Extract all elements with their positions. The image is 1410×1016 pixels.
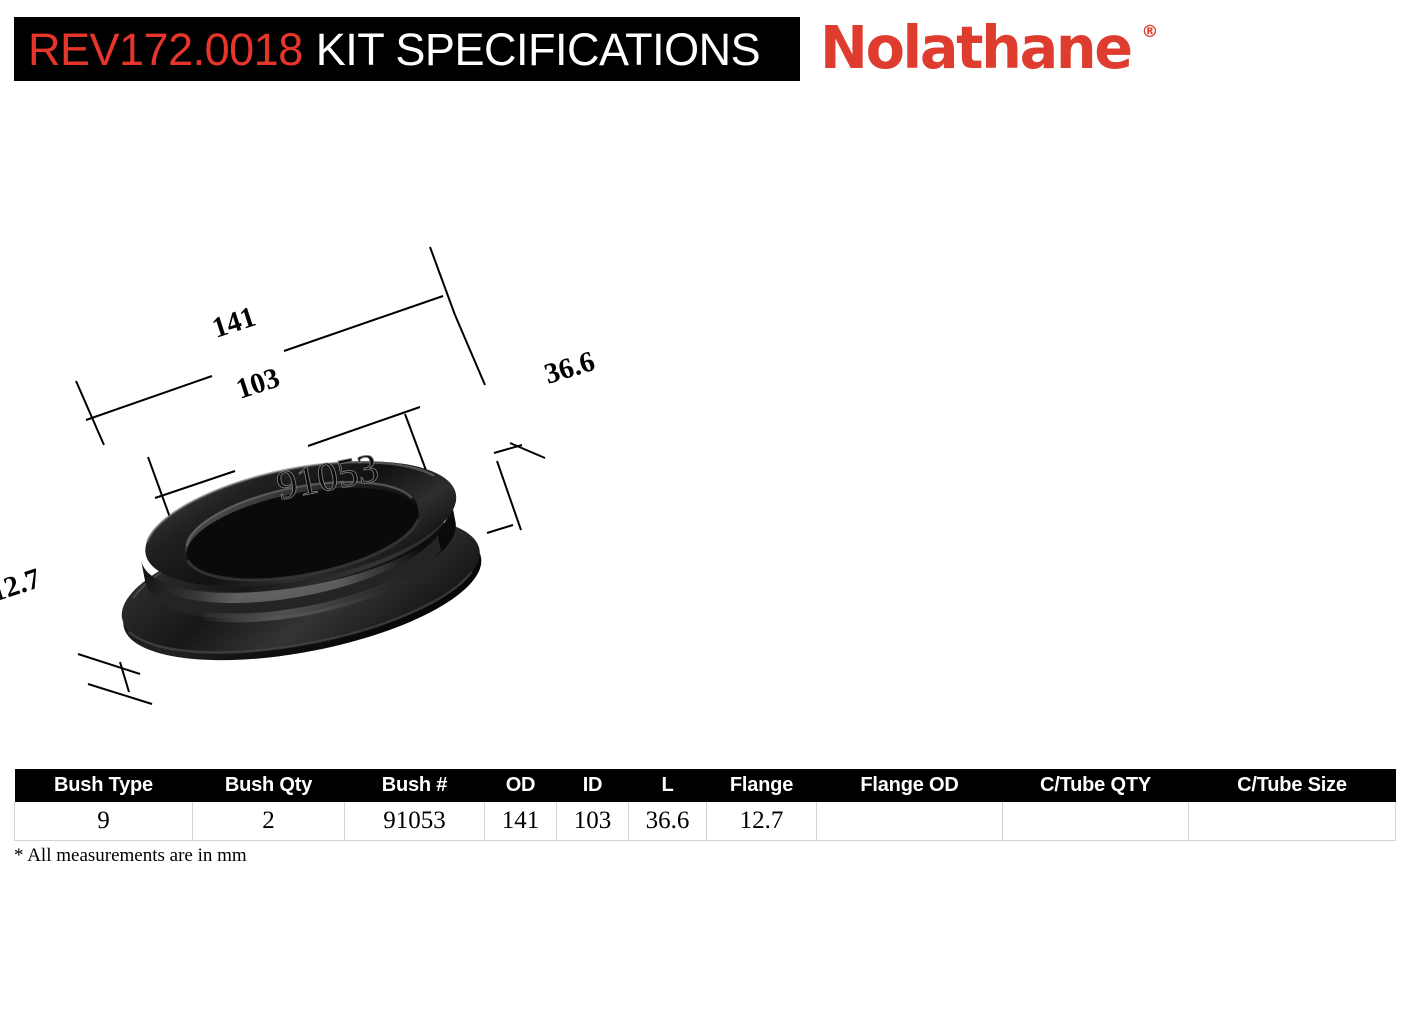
spec-table-container: Bush Type Bush Qty Bush # OD ID L Flange… [14,769,1395,841]
spec-sheet-page: REV172.0018 KIT SPECIFICATIONS Nolathane… [0,0,1410,1016]
column-header-ctube-size: C/Tube Size [1189,769,1396,802]
cell-bush-type: 9 [15,802,193,840]
kit-code: REV172.0018 [28,27,303,72]
column-header-ctube-qty: C/Tube QTY [1003,769,1189,802]
cell-id: 103 [557,802,629,840]
table-row: 9 2 91053 141 103 36.6 12.7 [15,802,1396,840]
column-header-flange-od: Flange OD [817,769,1003,802]
dimension-label-103: 103 [232,362,283,406]
column-header-id: ID [557,769,629,802]
dimension-label-141: 141 [208,301,259,345]
cell-bush-number: 91053 [345,802,485,840]
kit-specifications-table: Bush Type Bush Qty Bush # OD ID L Flange… [14,769,1396,841]
brand-name: Nolathane [820,16,1131,80]
table-header-row: Bush Type Bush Qty Bush # OD ID L Flange… [15,769,1396,802]
column-header-bush-number: Bush # [345,769,485,802]
cell-flange-od [817,802,1003,840]
cell-flange: 12.7 [707,802,817,840]
title-bar: REV172.0018 KIT SPECIFICATIONS [14,17,800,81]
cell-bush-qty: 2 [193,802,345,840]
column-header-bush-type: Bush Type [15,769,193,802]
dimension-label-36-6: 36.6 [541,345,599,390]
cell-od: 141 [485,802,557,840]
registered-trademark-icon: ® [1141,22,1158,42]
measurement-units-note: * All measurements are in mm [14,845,247,867]
cell-l: 36.6 [629,802,707,840]
page-title: KIT SPECIFICATIONS [316,27,760,72]
page-header: REV172.0018 KIT SPECIFICATIONS Nolathane… [0,0,1410,100]
dimension-label-12-7: 12.7 [0,563,44,609]
column-header-l: L [629,769,707,802]
cell-ctube-qty [1003,802,1189,840]
column-header-flange: Flange [707,769,817,802]
column-header-bush-qty: Bush Qty [193,769,345,802]
cell-ctube-size [1189,802,1396,840]
column-header-od: OD [485,769,557,802]
brand-logo: Nolathane ® [820,16,1158,82]
bush-part-illustration: 91053 [111,439,493,686]
technical-drawing: 91053 141 103 36.6 12.7 [0,100,900,750]
